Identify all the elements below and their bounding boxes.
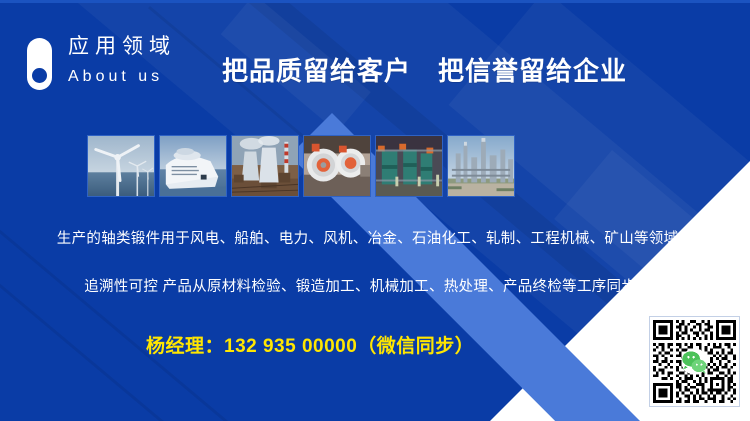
badge-hole-icon (32, 68, 47, 83)
headline-slogan: 把品质留给客户 把信誉留给企业 (222, 51, 627, 88)
top-edge-divider (0, 0, 750, 3)
industrial-fan-thumbnail (303, 135, 371, 197)
contact-info: 杨经理：132 935 00000（微信同步） (146, 331, 474, 358)
forging-press-thumbnail (375, 135, 443, 197)
petrochemical-plant-thumbnail (447, 135, 515, 197)
description-line-2: 追溯性可控 产品从原材料检验、锻造加工、机械加工、热处理、产品终检等工序同步完成 (0, 275, 750, 296)
pill-badge-icon (27, 38, 52, 90)
description-line-1: 生产的轴类锻件用于风电、船舶、电力、风机、冶金、石油化工、轧制、工程机械、矿山等… (0, 227, 750, 248)
about-us-banner: 应用领域 About us 把品质留给客户 把信誉留给企业 (0, 0, 750, 421)
wechat-qr-code-icon[interactable] (649, 316, 740, 407)
cruise-ship-thumbnail (159, 135, 227, 197)
wind-turbine-thumbnail (87, 135, 155, 197)
wechat-logo-icon (681, 348, 707, 374)
section-title-cn: 应用领域 (68, 34, 176, 59)
power-plant-thumbnail (231, 135, 299, 197)
application-gallery (87, 135, 515, 197)
qr-code-matrix (653, 320, 736, 403)
section-title-en: About us (68, 68, 176, 86)
header-title-group: 应用领域 About us (68, 34, 176, 86)
